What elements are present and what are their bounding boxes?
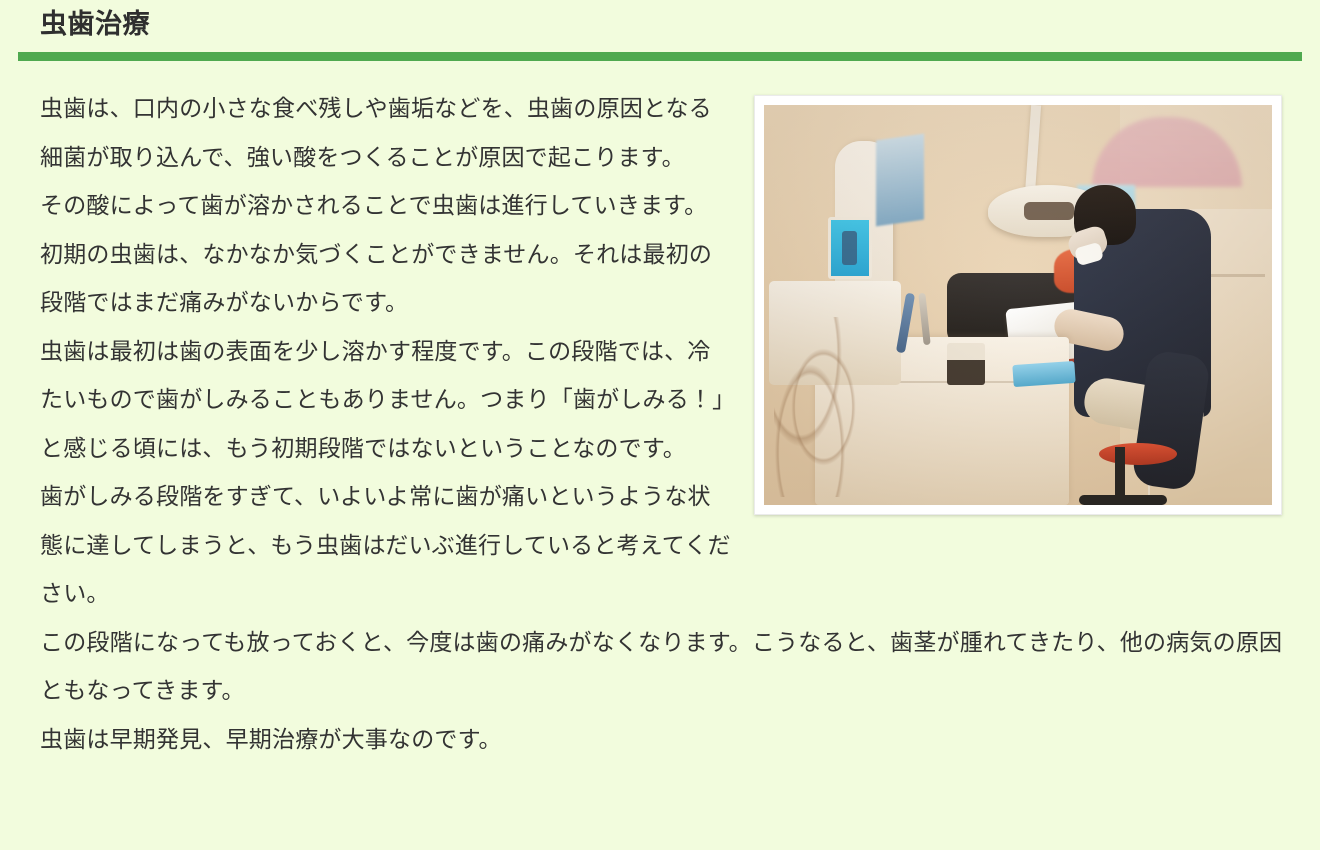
treatment-photo-figure: [754, 95, 1282, 515]
paragraph: この段階になっても放っておくと、今度は歯の痛みがなくなります。こうなると、歯茎が…: [40, 619, 1300, 716]
title-underline-rule: [18, 52, 1302, 61]
page-title: 虫歯治療: [18, 0, 1302, 46]
article-header: 虫歯治療: [0, 0, 1320, 61]
paragraph: 虫歯は早期発見、早期治療が大事なのです。: [40, 716, 1300, 765]
treatment-photo: [764, 105, 1272, 505]
article-page: 虫歯治療: [0, 0, 1320, 850]
photo-soft-overlay: [764, 105, 1272, 505]
article-body: 虫歯は、口内の小さな食べ残しや歯垢などを、虫歯の原因となる細菌が取り込んで、強い…: [0, 61, 1320, 764]
